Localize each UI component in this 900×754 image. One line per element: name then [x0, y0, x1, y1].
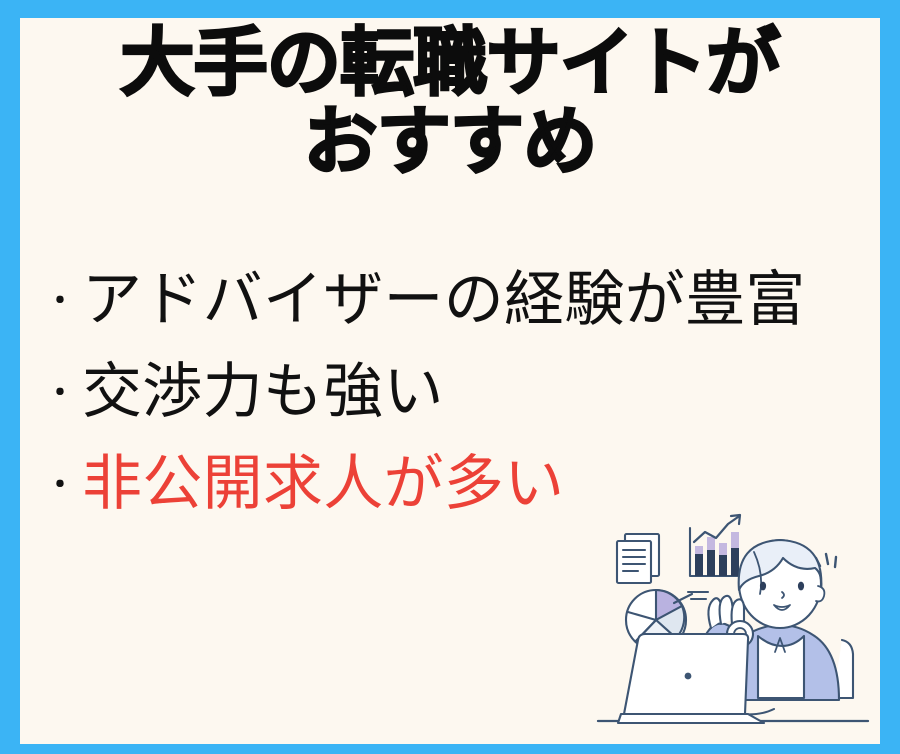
benefits-list: ・ アドバイザーの経験が豊富 ・ 交渉力も強い ・ 非公開求人が多い: [38, 254, 878, 530]
title-line-1: 大手の転職サイトが: [20, 26, 880, 101]
slide-card: 大手の転職サイトが おすすめ ・ アドバイザーの経験が豊富 ・ 交渉力も強い ・…: [0, 0, 900, 754]
list-item-label: 交渉力も強い: [82, 361, 444, 424]
bullet-dot-icon: ・: [38, 379, 82, 409]
bullet-dot-icon: ・: [38, 287, 82, 317]
illustration-woman-at-laptop: [588, 508, 878, 742]
title-line-2: おすすめ: [20, 105, 880, 180]
list-item-label: アドバイザーの経験が豊富: [82, 269, 806, 332]
page-title: 大手の転職サイトが おすすめ: [20, 26, 880, 181]
list-item-label-highlighted: 非公開求人が多い: [82, 453, 564, 516]
bullet-dot-icon: ・: [38, 471, 82, 501]
list-item: ・ 交渉力も強い: [38, 346, 878, 438]
slide-inner-panel: 大手の転職サイトが おすすめ ・ アドバイザーの経験が豊富 ・ 交渉力も強い ・…: [20, 18, 880, 744]
documents-icon: [617, 534, 659, 583]
laptop: [618, 634, 764, 723]
list-item: ・ アドバイザーの経験が豊富: [38, 254, 878, 346]
bar-chart-icon: [690, 515, 740, 576]
